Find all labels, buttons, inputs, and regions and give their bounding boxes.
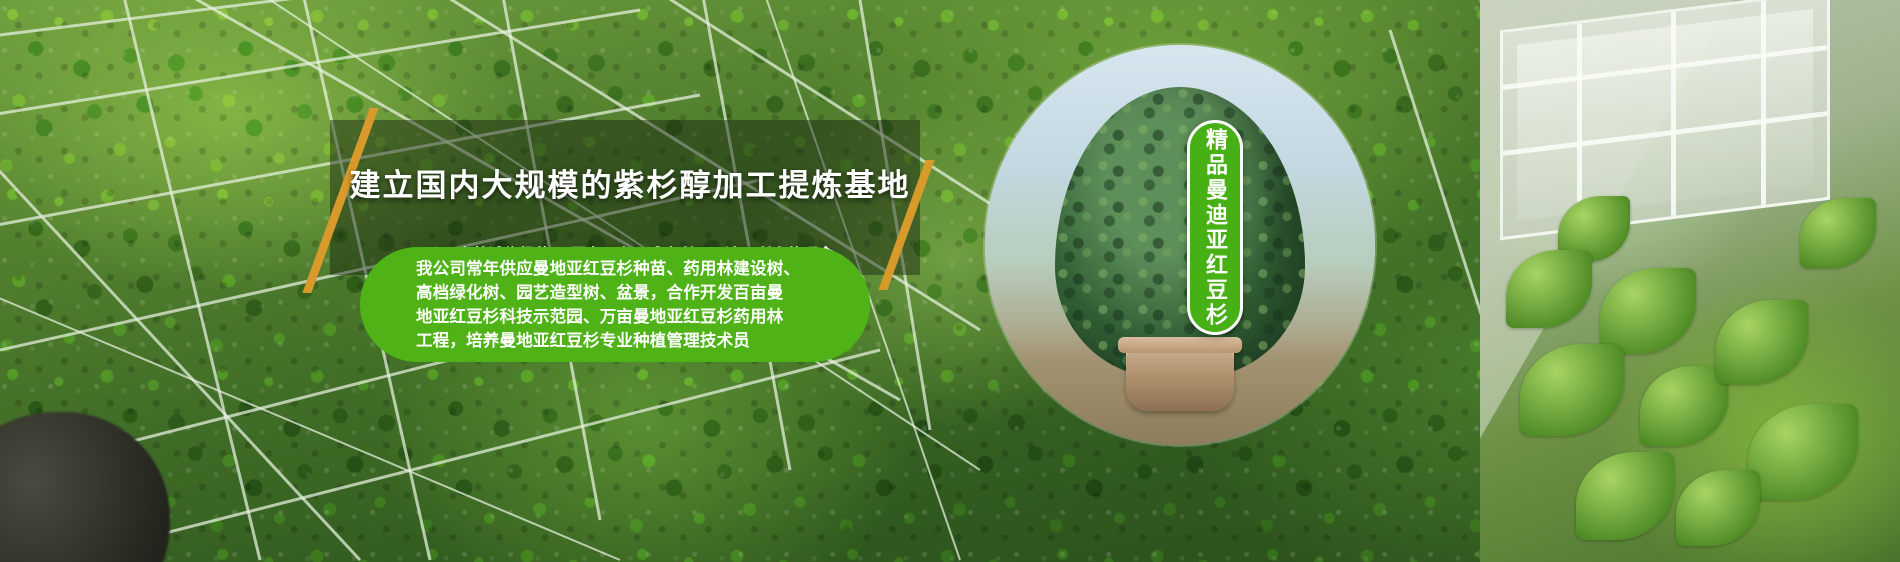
- page-title: 建立国内大规模的紫杉醇加工提炼基地: [330, 160, 930, 205]
- greenhouse-photo-strip: [1480, 0, 1900, 562]
- description-line: 工程，培养曼地亚红豆杉专业种植管理技术员: [416, 329, 800, 353]
- vertical-label-text: 精品曼迪亚红豆杉: [1204, 128, 1226, 328]
- description-line-list: 我公司常年供应曼地亚红豆杉种苗、药用林建设树、 高档绿化树、园艺造型树、盆景，合…: [360, 257, 800, 353]
- potted-yew-tree-photo: [985, 45, 1375, 445]
- description-line: 地亚红豆杉科技示范园、万亩曼地亚红豆杉药用林: [416, 305, 800, 329]
- vertical-product-label: 精品曼迪亚红豆杉: [1187, 120, 1243, 335]
- greenhouse-structure: [1500, 0, 1830, 240]
- promo-banner: 精品曼迪亚红豆杉 建立国内大规模的紫杉醇加工提炼基地 公司本着诚信经营、 顾客至…: [0, 0, 1900, 562]
- description-line: 我公司常年供应曼地亚红豆杉种苗、药用林建设树、: [416, 257, 800, 281]
- company-description-box: 我公司常年供应曼地亚红豆杉种苗、药用林建设树、 高档绿化树、园艺造型树、盆景，合…: [360, 247, 870, 362]
- terracotta-pot: [1126, 345, 1234, 411]
- description-line: 高档绿化树、园艺造型树、盆景，合作开发百亩曼: [416, 281, 800, 305]
